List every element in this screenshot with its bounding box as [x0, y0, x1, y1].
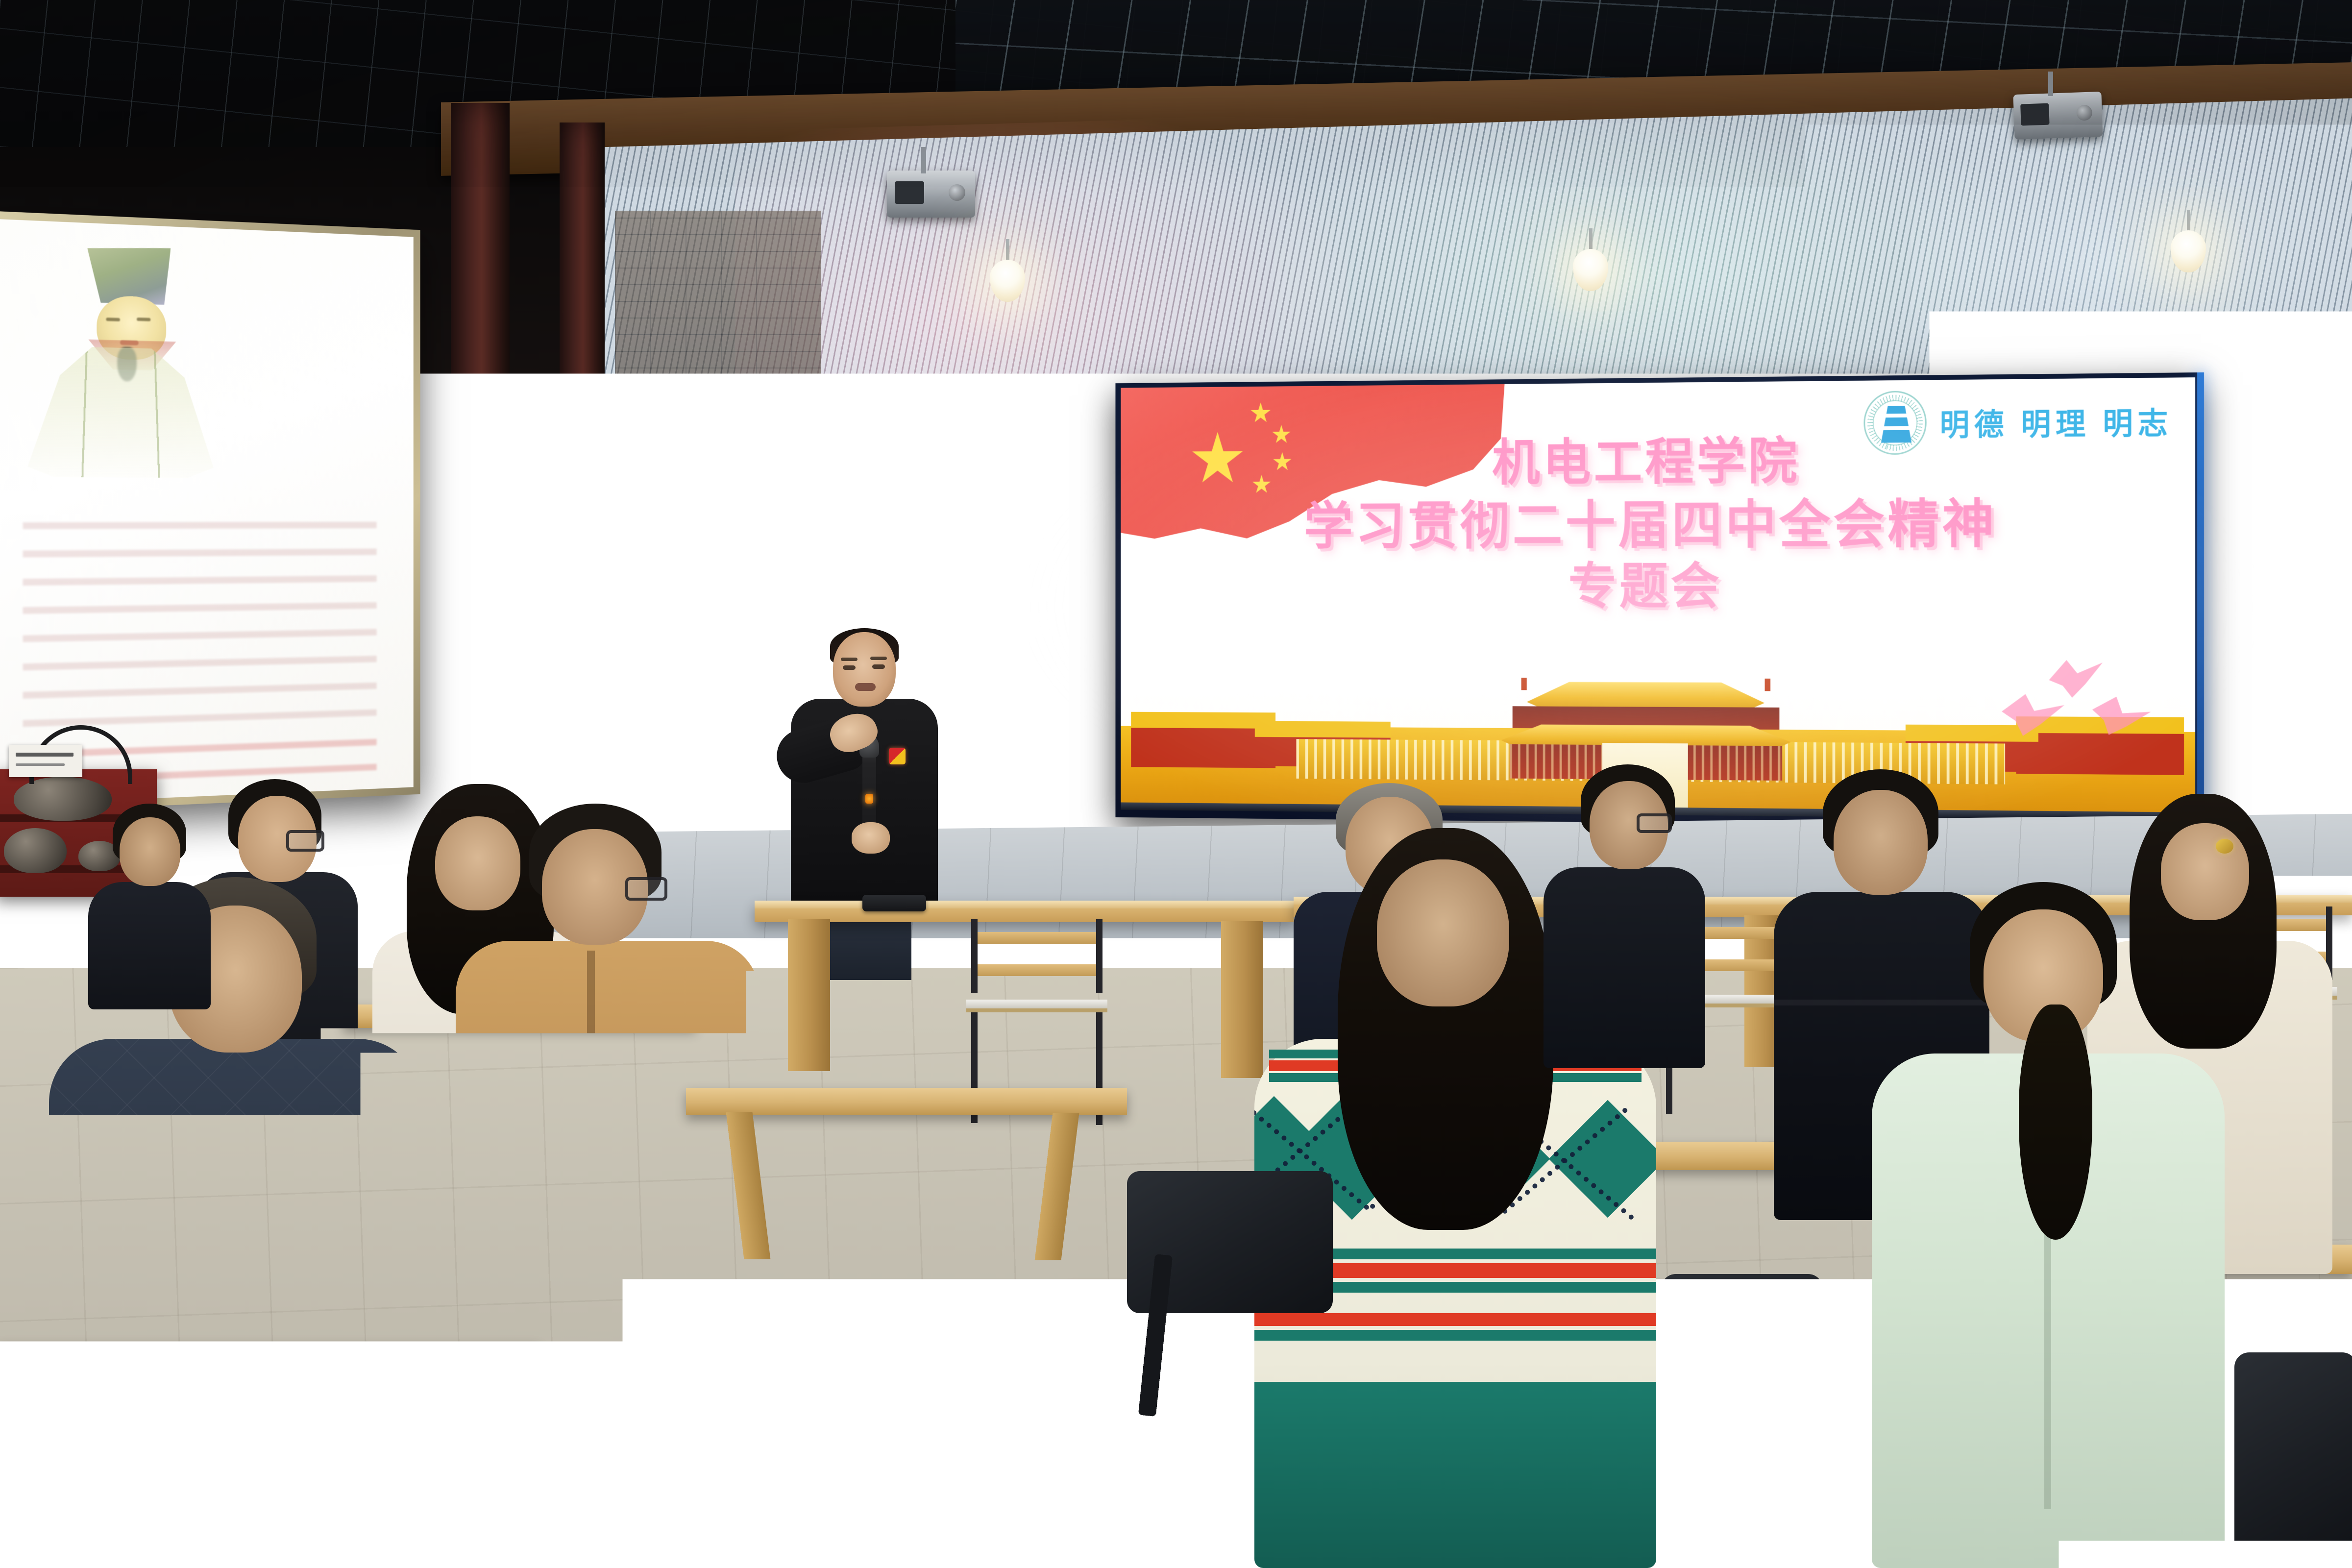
slide-title-line-2: 学习贯彻二十届四中全会精神 — [1121, 493, 2195, 557]
slide-title-line-1: 机电工程学院 — [1121, 430, 2195, 494]
ceiling-blue-glow — [1911, 121, 2352, 379]
hair-clip-icon — [2216, 839, 2233, 854]
speaker-head — [833, 632, 896, 707]
peace-doves-graphic — [1997, 652, 2161, 745]
audience-member-mint-coat-woman — [1872, 882, 2225, 1568]
historical-portrait-image — [17, 242, 217, 482]
audience-member-camel-coat-man — [456, 804, 759, 1416]
person-torso — [88, 882, 211, 1009]
led-edge-glow — [2197, 372, 2204, 828]
audience-member-back-left — [88, 804, 211, 1009]
left-screen-bodytext — [23, 522, 377, 732]
exhibit-placard — [9, 745, 82, 777]
table-leg-a — [788, 919, 830, 1071]
pendant-light-2 — [1573, 228, 1608, 293]
eyeglasses-icon — [1637, 813, 1672, 833]
sweater-stripe-green — [1254, 1330, 1656, 1341]
portrait-robe-outline — [27, 345, 213, 478]
wall-calligraphy-left — [1019, 456, 1078, 710]
projector-icon-2 — [2013, 92, 2103, 140]
slide-title-group: 机电工程学院 学习贯彻二十届四中全会精神 专题会 — [1121, 430, 2195, 616]
ceremonial-drum — [958, 715, 1049, 779]
person-head — [1377, 859, 1509, 1006]
phone-on-table[interactable] — [862, 895, 926, 911]
portrait-eye-left — [106, 318, 120, 321]
backpack-right[interactable] — [1661, 1274, 1823, 1519]
bag-far-right[interactable] — [2234, 1352, 2352, 1558]
person-torso — [1543, 867, 1705, 1068]
pendant-light-3 — [2171, 210, 2206, 274]
person-torso — [49, 1039, 421, 1568]
projector-mount-left — [921, 147, 926, 173]
lecture-hall-scene: 明德 明理 明志 机电工程学院 学习贯彻二十届四中全会精神 专题会 — [0, 0, 2352, 1568]
eyeglasses-icon — [286, 830, 324, 852]
slide-title-line-3: 专题会 — [1121, 558, 2195, 617]
party-badge-pin — [889, 748, 906, 764]
ponytail — [2019, 1004, 2092, 1240]
sweater-hem-block — [1254, 1382, 1656, 1568]
microphone-icon — [862, 739, 876, 835]
speaker-mic-hand — [852, 822, 890, 854]
coat-seam — [587, 951, 595, 1352]
pendant-light-1 — [990, 239, 1025, 304]
pottery-vessel-medium — [4, 828, 67, 873]
sweater-stripe-red — [1254, 1313, 1656, 1326]
audience-member-black-jacket-man — [1543, 764, 1705, 1068]
eyeglasses-icon — [625, 877, 667, 901]
flag-star-1 — [1250, 402, 1271, 424]
left-projection-screen — [0, 211, 420, 813]
ceiling-green-glow — [1274, 112, 2009, 388]
main-led-screen[interactable]: 明德 明理 明志 机电工程学院 学习贯彻二十届四中全会精神 专题会 — [1115, 372, 2201, 828]
person-head — [1834, 790, 1928, 895]
water-bottle-floor[interactable] — [392, 1441, 425, 1566]
water-bottle-bench[interactable] — [1272, 1258, 1313, 1412]
person-head — [120, 817, 180, 886]
ceiling-pink-glow — [735, 114, 1347, 406]
drum-cart — [935, 773, 1077, 832]
portrait-eye-right — [137, 318, 150, 321]
person-torso — [456, 941, 759, 1416]
projector-mount-right — [2048, 72, 2053, 96]
projector-icon — [887, 171, 975, 218]
